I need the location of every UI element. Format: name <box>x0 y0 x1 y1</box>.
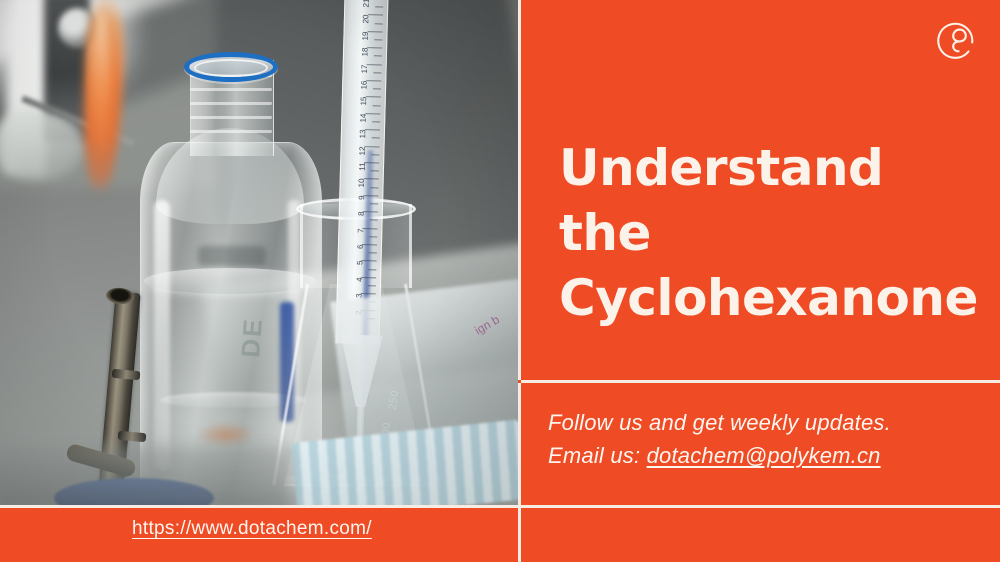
bottle-mouth <box>194 59 268 77</box>
dotachem-logo-icon[interactable] <box>934 16 978 60</box>
pipette-tick-minor <box>372 121 380 122</box>
pipette-graduation-label: 16 <box>360 80 369 89</box>
pipette-graduation-label: 8 <box>356 212 365 217</box>
pipette-tick-minor <box>368 269 376 270</box>
divider-vertical-bottom <box>518 508 521 562</box>
email-label: Email us: <box>548 443 647 468</box>
pipette-tick-minor <box>373 72 381 73</box>
bench-front-edge <box>0 445 290 505</box>
bottle-thread <box>190 116 272 119</box>
bottle-thread <box>190 88 272 91</box>
pipette-graduation-label: 20 <box>361 15 370 24</box>
contact-block: Follow us and get weekly updates. Email … <box>548 406 988 473</box>
pipette-graduation-label: 6 <box>355 244 364 249</box>
lab-photo: DE 250 200 150 100 212019181716151413121… <box>0 0 518 505</box>
email-line: Email us: dotachem@polykem.cn <box>548 439 988 472</box>
pipette-tick-minor <box>375 23 383 24</box>
title-block: Understand the Cyclohexanone <box>559 136 979 331</box>
pipette-tick-minor <box>374 39 382 40</box>
bottle-thread <box>190 130 272 133</box>
pipette-graduation-label: 15 <box>359 97 368 106</box>
pipette-tick-minor <box>369 236 377 237</box>
pipette-tick-minor <box>372 138 380 139</box>
pipette-graduation-label: 19 <box>361 31 370 40</box>
pipette-tick-minor <box>371 154 379 155</box>
divider-horizontal-bottom <box>0 505 1000 508</box>
divider-horizontal-middle <box>521 380 1000 383</box>
bunsen-flame-core <box>92 14 110 164</box>
pipette-graduation-label: 21 <box>362 0 371 8</box>
pipette-tick-minor <box>369 252 377 253</box>
pipette-tick-minor <box>370 220 378 221</box>
pipette-graduation-label: 5 <box>355 261 364 266</box>
pipette-tick-minor <box>373 88 381 89</box>
pipette-graduation-label: 9 <box>357 195 366 200</box>
pipette-graduation-label: 17 <box>360 64 369 73</box>
pipette-tick-minor <box>373 105 381 106</box>
pipette-graduation-label: 10 <box>357 179 366 188</box>
photo-background: DE 250 200 150 100 212019181716151413121… <box>0 0 518 505</box>
pipette-tick-minor <box>374 56 382 57</box>
url-bar: https://www.dotachem.com/ <box>132 518 372 540</box>
website-url-link[interactable]: https://www.dotachem.com/ <box>132 518 372 539</box>
divider-vertical-middle <box>518 383 521 505</box>
bottle-highlight-left <box>154 200 170 470</box>
pipette-graduation-label: 7 <box>356 228 365 233</box>
pipette-tick-minor <box>370 203 378 204</box>
pipette-graduation-label: 14 <box>359 113 368 122</box>
divider-vertical-top <box>518 0 521 380</box>
pipette-graduation-label: 12 <box>358 146 367 155</box>
bottle-interior-shadow <box>198 246 266 266</box>
presentation-slide: DE 250 200 150 100 212019181716151413121… <box>0 0 1000 562</box>
email-link[interactable]: dotachem@polykem.cn <box>647 443 881 468</box>
pipette-tick-minor <box>371 170 379 171</box>
bottle-thread <box>190 102 272 105</box>
pipette-graduation-label: 4 <box>355 277 364 282</box>
pipette-graduation-label: 18 <box>360 48 369 57</box>
page-title: Understand the Cyclohexanone <box>559 136 979 331</box>
pipette-tick-minor <box>368 285 376 286</box>
bottle-label-text: DE <box>235 316 269 358</box>
pipette-graduation-label: 11 <box>357 162 366 171</box>
pipette-graduation-label: 13 <box>358 130 367 139</box>
pipette-tick-minor <box>375 7 383 8</box>
pipette-tick-minor <box>370 187 378 188</box>
follow-us-text: Follow us and get weekly updates. <box>548 406 988 439</box>
plastic-bag-tray <box>330 279 518 441</box>
